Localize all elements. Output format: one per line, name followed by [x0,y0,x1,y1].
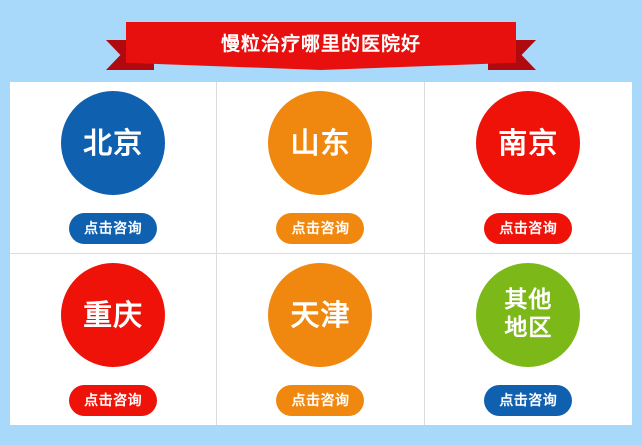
region-cell-shandong[interactable]: 山东 点击咨询 [217,82,424,254]
region-circle-label-line2: 地区 [504,315,552,343]
region-circle-label: 南京 [498,128,558,158]
region-cell-nanjing[interactable]: 南京 点击咨询 [425,82,632,254]
region-circle-label: 重庆 [83,300,143,330]
region-grid-panel: 北京 点击咨询 山东 点击咨询 南京 点击咨询 重庆 点击咨询 天津 点击咨询 … [10,82,632,425]
consult-button-beijing[interactable]: 点击咨询 [69,213,157,244]
region-circle-other-regions[interactable]: 其他 地区 [476,263,580,367]
consult-button-chongqing[interactable]: 点击咨询 [69,385,157,416]
region-circle-label-line1: 其他 [504,287,552,315]
region-circle-shandong[interactable]: 山东 [268,91,372,195]
consult-button-nanjing[interactable]: 点击咨询 [484,213,572,244]
region-circle-beijing[interactable]: 北京 [61,91,165,195]
region-circle-nanjing[interactable]: 南京 [476,91,580,195]
ribbon-body: 慢粒治疗哪里的医院好 [126,22,516,70]
region-cell-tianjin[interactable]: 天津 点击咨询 [217,254,424,426]
consult-button-shandong[interactable]: 点击咨询 [276,213,364,244]
region-cell-chongqing[interactable]: 重庆 点击咨询 [10,254,217,426]
region-circle-label: 山东 [290,128,350,158]
banner-title: 慢粒治疗哪里的医院好 [221,35,421,54]
ribbon-banner: 慢粒治疗哪里的医院好 [0,12,642,74]
region-circle-chongqing[interactable]: 重庆 [61,263,165,367]
region-circle-tianjin[interactable]: 天津 [268,263,372,367]
region-circle-label: 天津 [290,300,350,330]
region-cell-other-regions[interactable]: 其他 地区 点击咨询 [425,254,632,426]
region-cell-beijing[interactable]: 北京 点击咨询 [10,82,217,254]
region-circle-label: 北京 [83,128,143,158]
consult-button-other-regions[interactable]: 点击咨询 [484,385,572,416]
consult-button-tianjin[interactable]: 点击咨询 [276,385,364,416]
